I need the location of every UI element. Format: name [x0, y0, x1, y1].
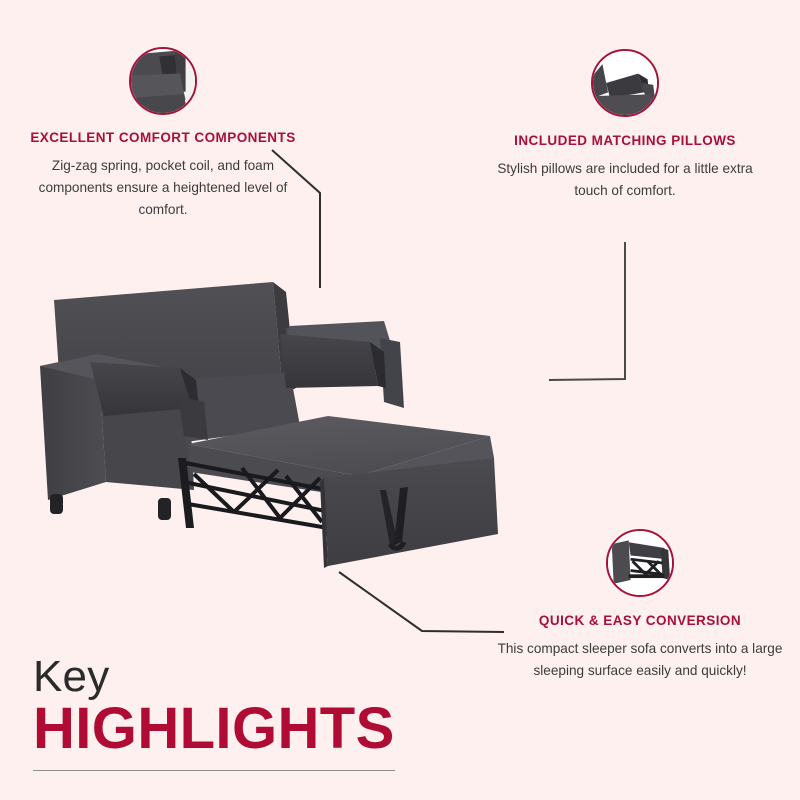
sofa-frame-mechanism-art — [608, 531, 672, 595]
feature-block-conversion: QUICK & EASY CONVERSION This compact sle… — [495, 529, 785, 682]
matching-pillows-closeup-art — [593, 51, 657, 115]
page-title-line-2: HIGHLIGHTS — [33, 700, 463, 758]
feature-title-conversion: QUICK & EASY CONVERSION — [495, 612, 785, 629]
connector-conversion — [339, 572, 504, 632]
page-title-line-1: Key — [33, 655, 463, 698]
infographic-canvas: EXCELLENT COMFORT COMPONENTS Zig-zag spr… — [0, 0, 800, 800]
title-divider — [33, 770, 395, 771]
feature-body-comfort: Zig-zag spring, pocket coil, and foam co… — [18, 155, 308, 221]
matching-pillows-closeup-icon — [591, 49, 659, 117]
feature-body-conversion: This compact sleeper sofa converts into … — [495, 638, 785, 682]
feature-body-pillows: Stylish pillows are included for a littl… — [480, 158, 770, 202]
sofa-frame-mechanism-icon — [606, 529, 674, 597]
feature-block-pillows: INCLUDED MATCHING PILLOWS Stylish pillow… — [480, 49, 770, 202]
sofa-seat-closeup-icon — [129, 47, 197, 115]
page-title: Key HIGHLIGHTS — [33, 655, 463, 758]
connector-pillows — [549, 242, 625, 380]
feature-block-comfort: EXCELLENT COMFORT COMPONENTS Zig-zag spr… — [18, 47, 308, 221]
sofa-seat-closeup-art — [131, 49, 195, 113]
product-image-sleeper-sofa — [28, 276, 508, 576]
feature-title-comfort: EXCELLENT COMFORT COMPONENTS — [18, 129, 308, 146]
feature-title-pillows: INCLUDED MATCHING PILLOWS — [480, 132, 770, 149]
